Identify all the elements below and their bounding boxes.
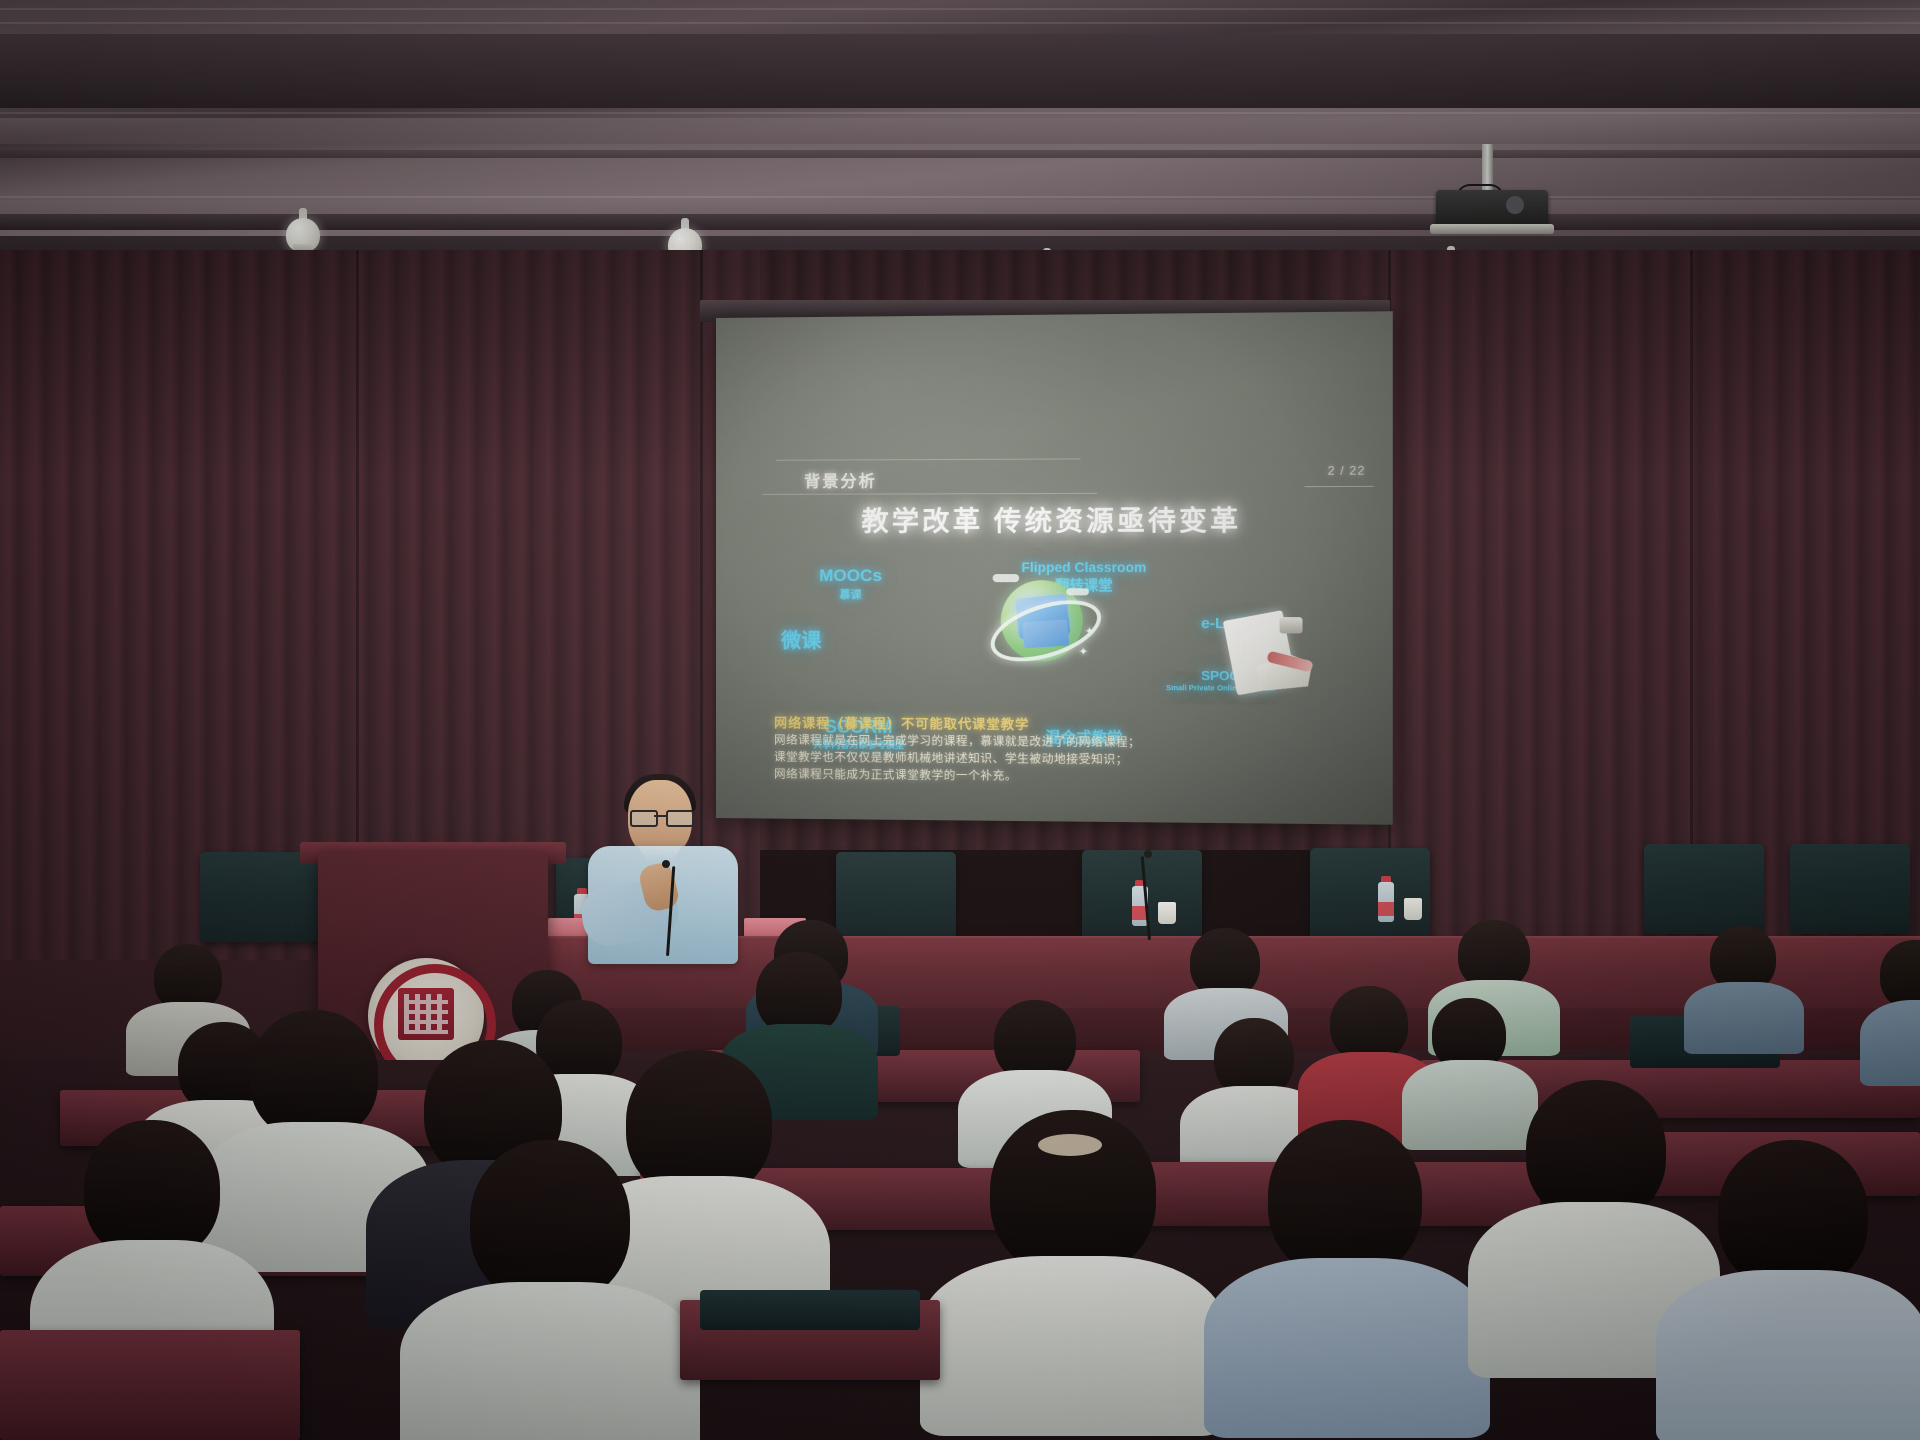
document-pen-icon bbox=[1225, 609, 1321, 703]
presenter bbox=[580, 780, 760, 980]
head-table-chair bbox=[200, 852, 320, 942]
header-rule-top bbox=[776, 458, 1081, 460]
lecture-hall-scene: 背景分析 2 / 22 教学改革 传统资源亟待变革 MOOCs 慕课 Flipp… bbox=[0, 0, 1920, 1440]
header-rule-bottom bbox=[762, 493, 1097, 495]
microphone-head-icon bbox=[1144, 850, 1152, 858]
page-number-rule bbox=[1305, 486, 1374, 487]
presentation-slide: 背景分析 2 / 22 教学改革 传统资源亟待变革 MOOCs 慕课 Flipp… bbox=[716, 311, 1393, 825]
microphone-head-icon bbox=[662, 860, 670, 868]
seat-back bbox=[700, 1290, 920, 1330]
paper-cup bbox=[1158, 902, 1176, 924]
head-table-chair bbox=[836, 852, 956, 942]
slide-note-body: 网络课程就是在网上完成学习的课程，慕课就是改进了的网络课程； 课堂教学也不仅仅是… bbox=[774, 732, 1349, 788]
head-table-chair bbox=[1790, 844, 1910, 934]
hair-clip-icon bbox=[1038, 1134, 1102, 1156]
keyword-moocs: MOOCs 慕课 bbox=[790, 566, 911, 602]
paper-cup bbox=[1404, 898, 1422, 920]
keyword-weike: 微课 bbox=[746, 624, 857, 653]
eyeglasses-icon bbox=[630, 810, 690, 823]
note-line: 网络课程只能成为正式课堂教学的一个补充。 bbox=[774, 766, 1349, 788]
slide-section-label: 背景分析 bbox=[804, 467, 877, 491]
head-table-chair bbox=[1644, 844, 1764, 934]
slide-page-number: 2 / 22 bbox=[1328, 463, 1366, 477]
bench-row-foreground bbox=[0, 1330, 300, 1440]
projection-screen: 背景分析 2 / 22 教学改革 传统资源亟待变革 MOOCs 慕课 Flipp… bbox=[716, 311, 1393, 825]
wall-seam bbox=[1690, 250, 1693, 930]
slide-title: 教学改革 传统资源亟待变革 bbox=[716, 498, 1393, 539]
water-bottle bbox=[1378, 876, 1394, 922]
globe-books-icon: ✦ ✦ bbox=[986, 570, 1097, 676]
slide-note-highlight: 网络课程（慕课程）不可能取代课堂教学 bbox=[774, 712, 1029, 733]
head-table-chair bbox=[1310, 848, 1430, 938]
